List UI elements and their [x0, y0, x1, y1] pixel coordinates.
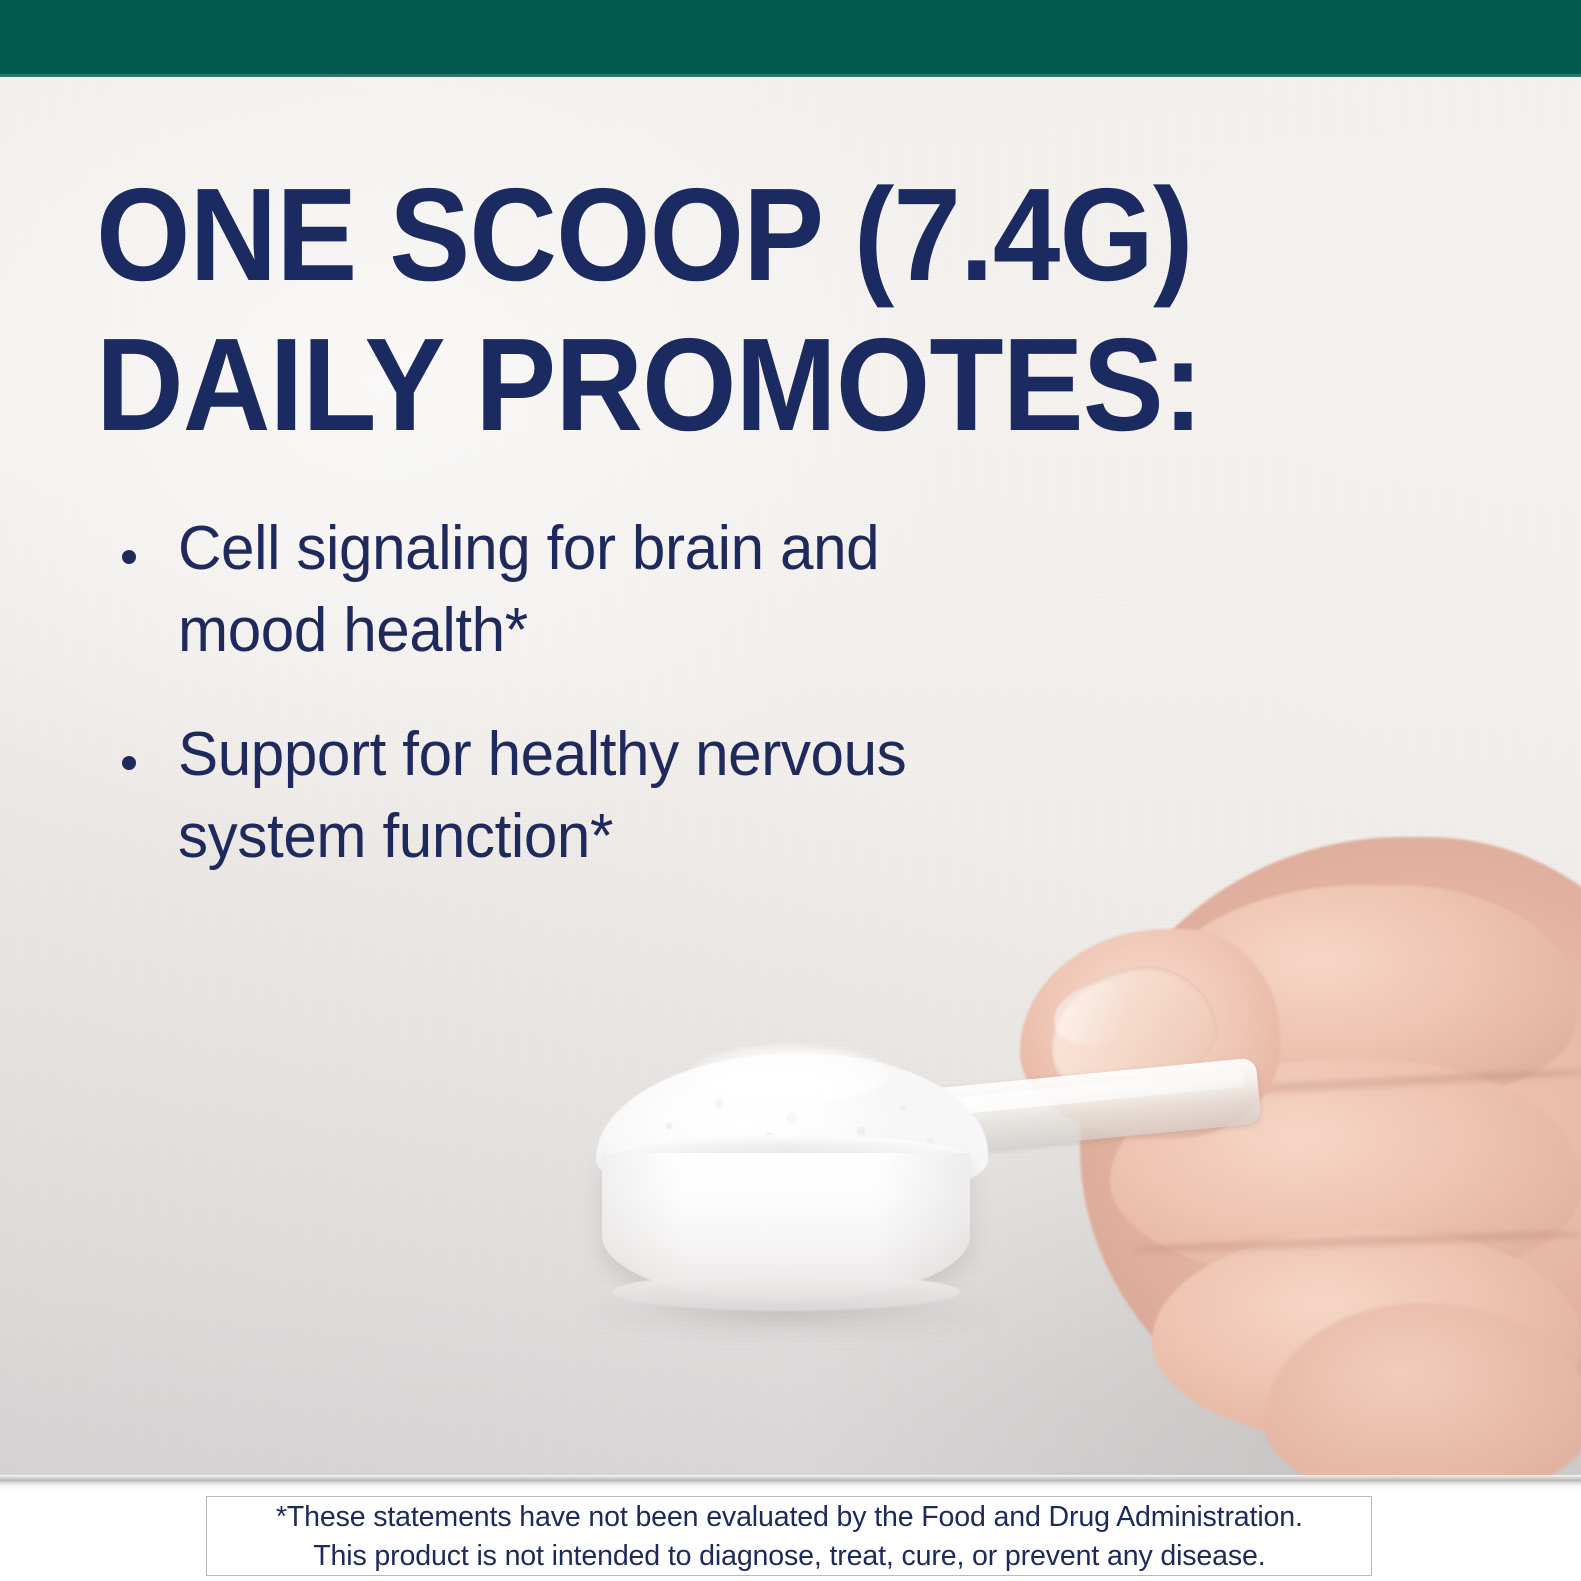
benefit-text: Cell signaling for brain and mood health…: [178, 508, 997, 672]
powder-highlight: [690, 1045, 890, 1103]
benefit-text: Support for healthy nervous system funct…: [178, 714, 997, 878]
page-title: ONE SCOOP (7.4G) DAILY PROMOTES:: [96, 160, 1255, 460]
product-infographic: ONE SCOOP (7.4G) DAILY PROMOTES: Cell si…: [0, 0, 1581, 1581]
disclaimer-line-1: *These statements have not been evaluate…: [276, 1498, 1303, 1537]
benefits-list: Cell signaling for brain and mood health…: [122, 508, 1022, 920]
list-item: Cell signaling for brain and mood health…: [122, 508, 1022, 672]
headline-line-2: DAILY PROMOTES:: [96, 310, 1255, 460]
list-item: Support for healthy nervous system funct…: [122, 714, 1022, 878]
disclaimer-line-2: This product is not intended to diagnose…: [313, 1537, 1265, 1576]
scoop-base: [612, 1273, 960, 1311]
bullet-dot-icon: [122, 756, 136, 770]
brand-color-bar: [0, 0, 1581, 77]
photo-drop-shadow: [0, 1481, 1581, 1490]
bullet-dot-icon: [122, 550, 136, 564]
fda-disclaimer: *These statements have not been evaluate…: [206, 1496, 1372, 1576]
headline-line-1: ONE SCOOP (7.4G): [96, 160, 1255, 310]
